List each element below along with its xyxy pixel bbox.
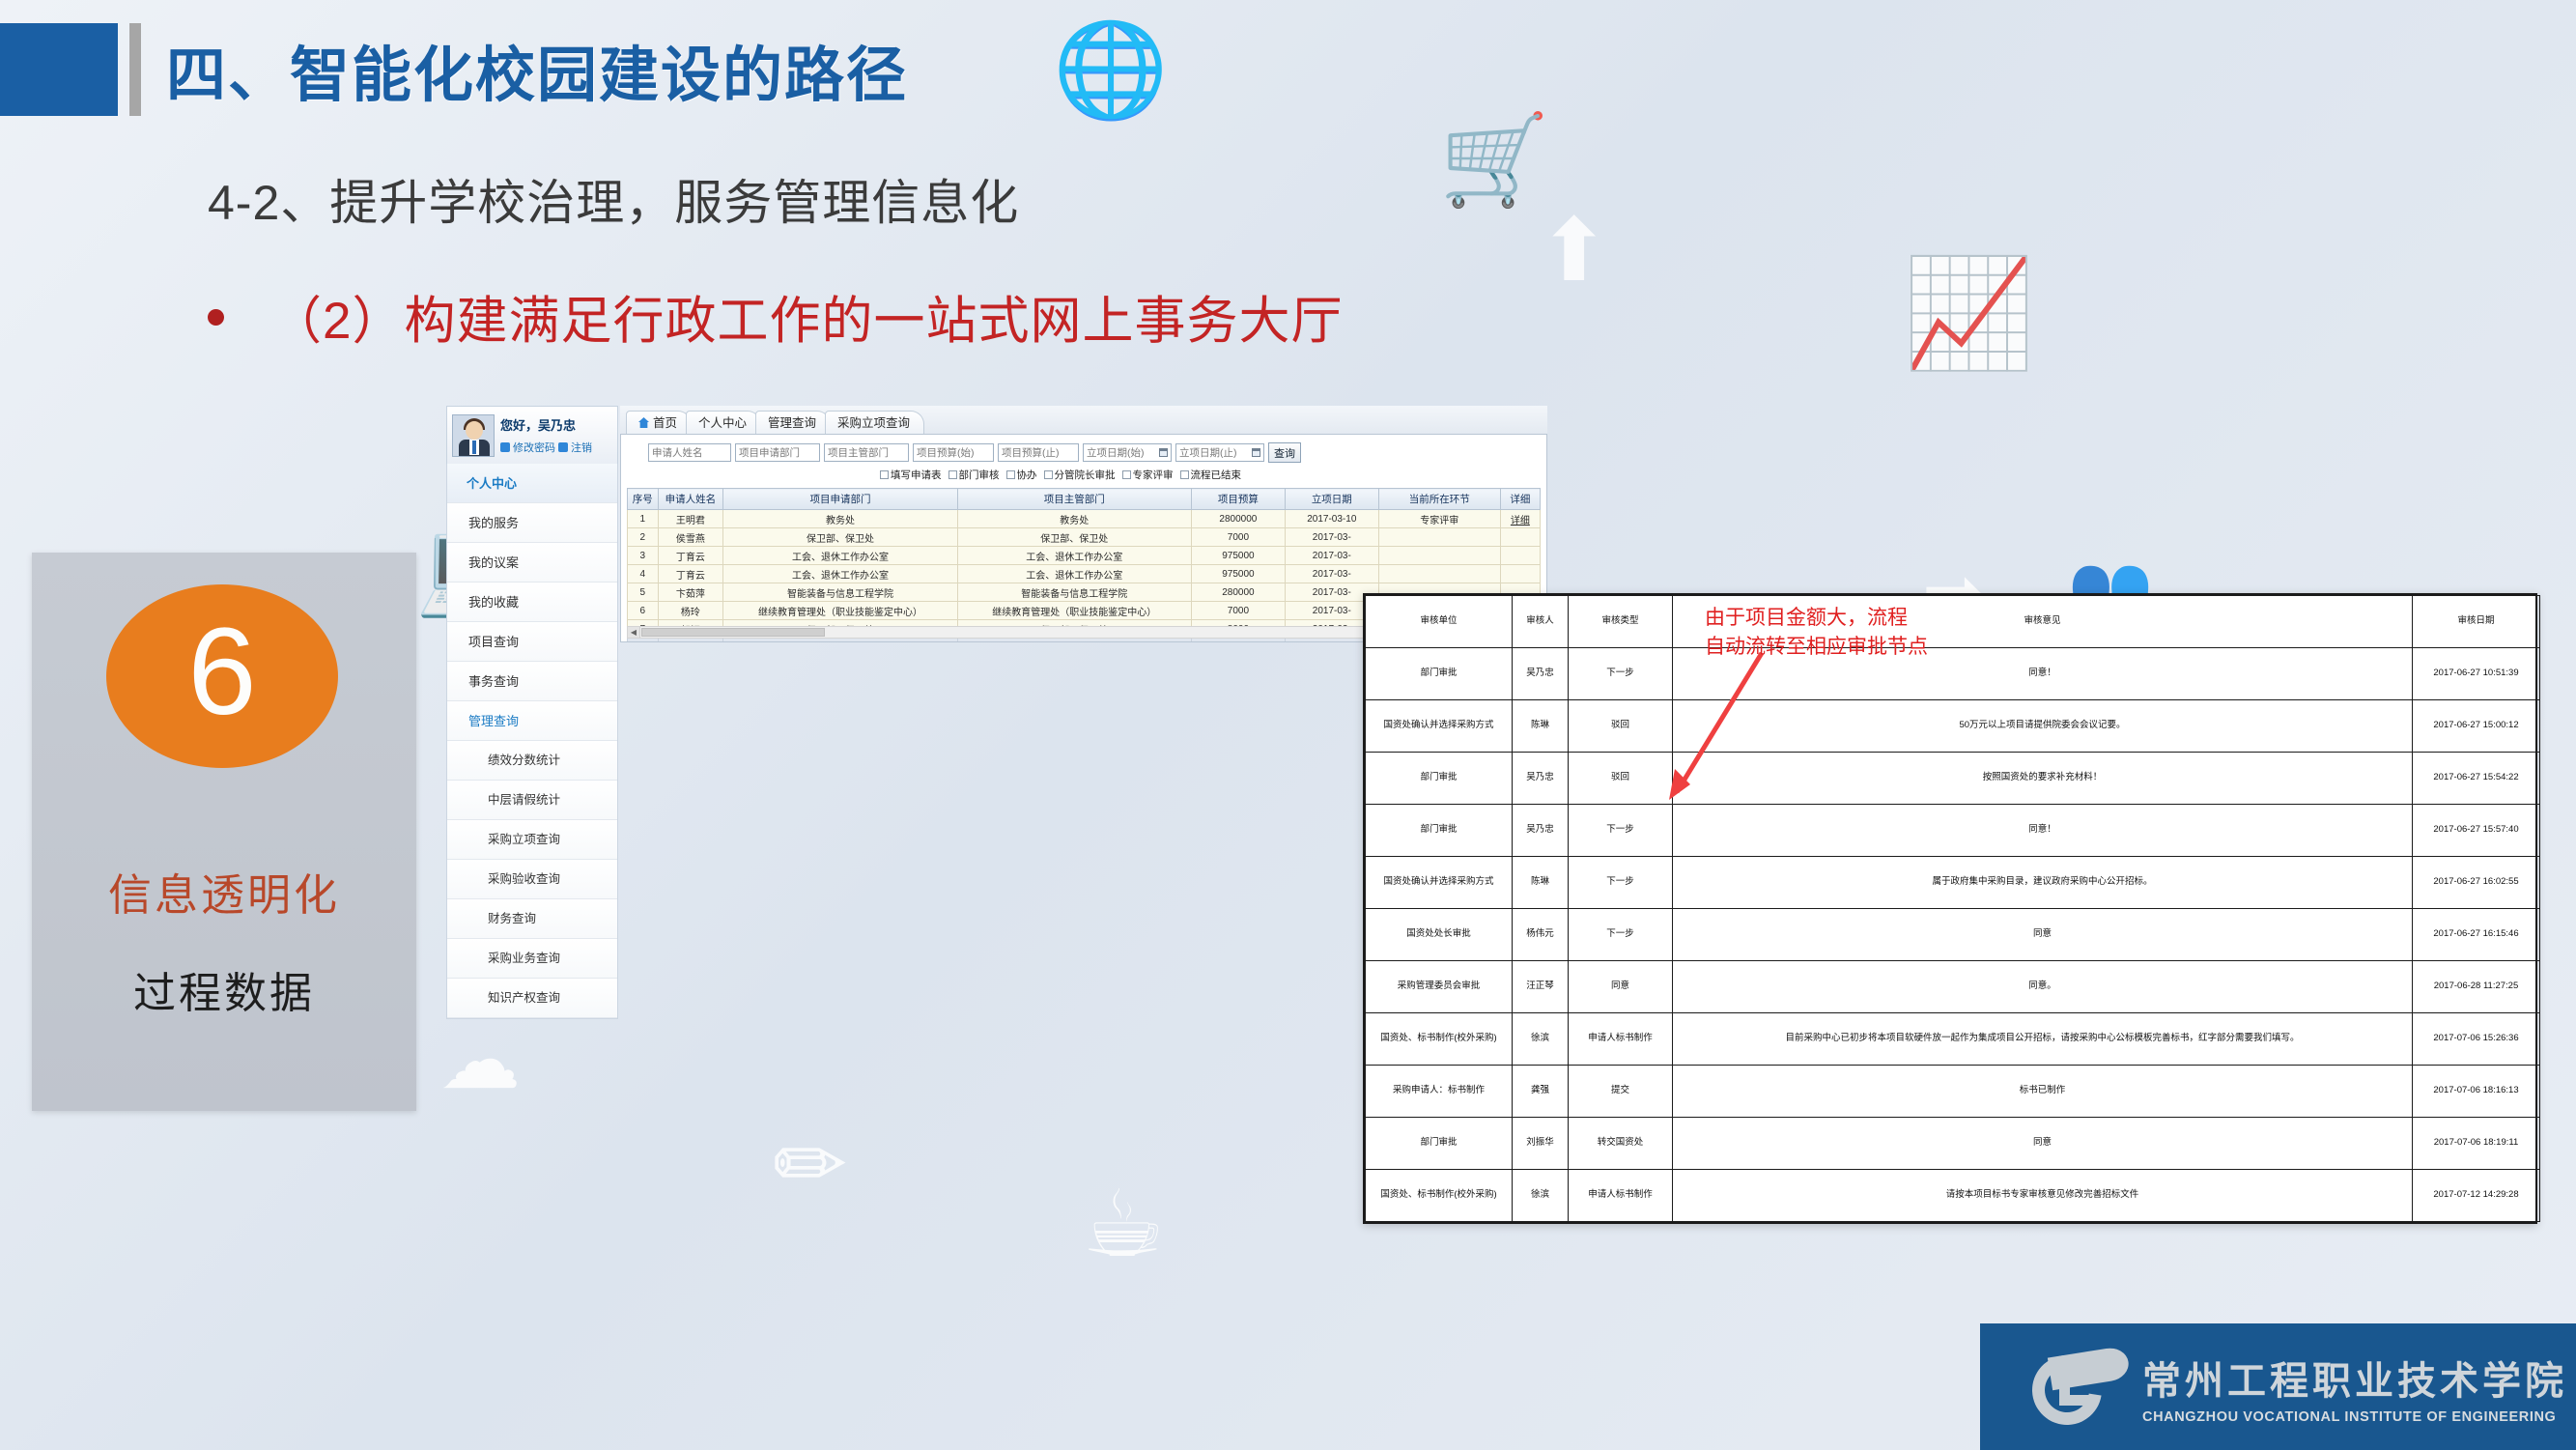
calendar-icon[interactable] xyxy=(1252,448,1260,457)
table-row[interactable]: 3丁育云工会、退休工作办公室工会、退休工作办公室9750002017-03- xyxy=(628,547,1541,565)
table-cell-apply: 保卫部、保卫处 xyxy=(723,528,957,547)
audit-cell-type: 同意 xyxy=(1569,961,1673,1013)
budget-to-input[interactable]: 项目预算(止) xyxy=(998,443,1079,462)
table-cell-budget: 975000 xyxy=(1191,565,1285,583)
checkbox-label: 专家评审 xyxy=(1133,468,1174,482)
audit-cell-unit: 采购申请人：标书制作 xyxy=(1366,1066,1513,1118)
tab-3[interactable]: 采购立项查询 xyxy=(825,411,924,434)
audit-cell-opinion: 同意 xyxy=(1673,1118,2413,1170)
sidebar-item-12[interactable]: 采购业务查询 xyxy=(447,939,617,979)
audit-cell-unit: 部门审批 xyxy=(1366,753,1513,805)
audit-cell-opinion: 同意 xyxy=(1673,909,2413,961)
audit-header-cell: 审核人 xyxy=(1513,596,1569,648)
status-checkbox-0[interactable]: 填写申请表 xyxy=(880,468,942,482)
table-cell-apply: 工会、退休工作办公室 xyxy=(723,547,957,565)
table-header-cell: 申请人姓名 xyxy=(658,489,723,510)
audit-cell-date: 2017-07-12 14:29:28 xyxy=(2413,1170,2540,1222)
step-number-circle: 6 xyxy=(106,584,338,768)
table-cell-manage: 学生工作部、人武部、学生工作处 xyxy=(957,639,1191,643)
status-checkbox-row: 填写申请表部门审核协办分管院长审批专家评审流程已结束 xyxy=(627,468,1541,482)
tab-label: 个人中心 xyxy=(698,412,747,435)
checkbox-icon[interactable] xyxy=(948,470,957,479)
audit-header-cell: 审核意见 xyxy=(1673,596,2413,648)
audit-cell-person: 吴乃忠 xyxy=(1513,753,1569,805)
sidebar-item-5[interactable]: 事务查询 xyxy=(447,662,617,701)
table-cell-apply: 学生工作部、人武部、学生工作处 xyxy=(723,639,957,643)
status-checkbox-1[interactable]: 部门审核 xyxy=(948,468,1000,482)
audit-cell-person: 徐滨 xyxy=(1513,1170,1569,1222)
scroll-left-arrow[interactable]: ◀ xyxy=(628,627,640,638)
table-cell-no: 8 xyxy=(628,639,659,643)
institute-name-cn: 常州工程职业技术学院 xyxy=(2142,1350,2567,1406)
apply-dept-input[interactable]: 项目申请部门 xyxy=(735,443,820,462)
monitor-chart-icon: 📈 xyxy=(1903,261,2035,367)
audit-cell-unit: 部门审批 xyxy=(1366,805,1513,857)
status-checkbox-4[interactable]: 专家评审 xyxy=(1122,468,1174,482)
audit-header-cell: 审核类型 xyxy=(1569,596,1673,648)
audit-row: 国资处处长审批杨伟元下一步同意2017-06-27 16:15:46 xyxy=(1366,909,2540,961)
table-cell-stage xyxy=(1378,547,1500,565)
search-button[interactable]: 查询 xyxy=(1268,442,1301,463)
slide-title-row: 四、智能化校园建设的路径 xyxy=(0,23,908,116)
sidebar-item-2[interactable]: 我的议案 xyxy=(447,543,617,583)
sidebar-item-0[interactable]: 个人中心 xyxy=(447,464,617,503)
audit-cell-unit: 国资处确认并选择采购方式 xyxy=(1366,700,1513,753)
audit-header-row: 审核单位审核人审核类型审核意见审核日期 xyxy=(1366,596,2540,648)
table-cell-date: 2017-03- xyxy=(1285,547,1378,565)
table-cell-name: 王明君 xyxy=(658,510,723,528)
audit-cell-type: 申请人标书制作 xyxy=(1569,1013,1673,1066)
sidebar-item-9[interactable]: 采购立项查询 xyxy=(447,820,617,860)
table-cell-apply: 智能装备与信息工程学院 xyxy=(723,583,957,602)
table-cell-detail[interactable] xyxy=(1500,547,1540,565)
table-row[interactable]: 2侯雪燕保卫部、保卫处保卫部、保卫处70002017-03- xyxy=(628,528,1541,547)
audit-cell-opinion: 属于政府集中采购目录，建议政府采购中心公开招标。 xyxy=(1673,857,2413,909)
globe-icon: 🌐 xyxy=(1053,24,1169,117)
badge-red-label: 信息透明化 xyxy=(32,860,416,923)
audit-cell-type: 下一步 xyxy=(1569,648,1673,700)
coffee-cup-icon: ☕ xyxy=(1082,1179,1165,1271)
checkbox-label: 填写申请表 xyxy=(891,468,942,482)
table-cell-date: 2017-03-10 xyxy=(1285,510,1378,528)
audit-cell-type: 提交 xyxy=(1569,1066,1673,1118)
tab-1[interactable]: 个人中心 xyxy=(686,411,761,434)
gear-icon xyxy=(500,442,510,452)
table-cell-manage: 工会、退休工作办公室 xyxy=(957,565,1191,583)
tab-label: 采购立项查询 xyxy=(837,412,910,435)
sidebar-item-10[interactable]: 采购验收查询 xyxy=(447,860,617,899)
slide-bullet-row: （2）构建满足行政工作的一站式网上事务大厅 xyxy=(208,280,1343,354)
table-cell-manage: 工会、退休工作办公室 xyxy=(957,547,1191,565)
table-header-cell: 详细 xyxy=(1500,489,1540,510)
audit-cell-date: 2017-07-06 15:26:36 xyxy=(2413,1013,2540,1066)
audit-cell-person: 龚强 xyxy=(1513,1066,1569,1118)
checkbox-icon[interactable] xyxy=(1044,470,1053,479)
manage-dept-input[interactable]: 项目主管部门 xyxy=(824,443,909,462)
table-cell-no: 3 xyxy=(628,547,659,565)
table-cell-apply: 工会、退休工作办公室 xyxy=(723,565,957,583)
audit-row: 采购申请人：标书制作龚强提交标书已制作2017-07-06 18:16:13 xyxy=(1366,1066,2540,1118)
audit-cell-person: 徐滨 xyxy=(1513,1013,1569,1066)
audit-cell-person: 汪正琴 xyxy=(1513,961,1569,1013)
table-cell-manage: 教务处 xyxy=(957,510,1191,528)
audit-row: 部门审批刘振华转交国资处同意2017-07-06 18:19:11 xyxy=(1366,1118,2540,1170)
checkbox-label: 协办 xyxy=(1017,468,1037,482)
table-cell-manage: 智能装备与信息工程学院 xyxy=(957,583,1191,602)
table-cell-stage: 专家评审 xyxy=(1378,510,1500,528)
institute-name-en: CHANGZHOU VOCATIONAL INSTITUTE OF ENGINE… xyxy=(2142,1409,2567,1425)
institute-logo-icon xyxy=(2026,1346,2131,1429)
table-cell-date: 2017-03- xyxy=(1285,528,1378,547)
change-password-link[interactable]: 修改密码 xyxy=(513,440,555,455)
table-cell-name: 杨玲 xyxy=(658,602,723,620)
audit-cell-opinion: 同意！ xyxy=(1673,805,2413,857)
audit-cell-type: 转交国资处 xyxy=(1569,1118,1673,1170)
audit-row: 采购管理委员会审批汪正琴同意同意。2017-06-28 11:27:25 xyxy=(1366,961,2540,1013)
audit-header-cell: 审核单位 xyxy=(1366,596,1513,648)
audit-cell-date: 2017-06-27 16:02:55 xyxy=(2413,857,2540,909)
table-cell-date: 2017-03- xyxy=(1285,565,1378,583)
audit-cell-date: 2017-06-27 15:57:40 xyxy=(2413,805,2540,857)
audit-row: 国资处、标书制作(校外采购)徐滨申请人标书制作请按本项目标书专家审核意见修改完善… xyxy=(1366,1170,2540,1222)
table-header-cell: 项目预算 xyxy=(1191,489,1285,510)
status-checkbox-2[interactable]: 协办 xyxy=(1006,468,1037,482)
table-cell-no: 6 xyxy=(628,602,659,620)
logout-icon xyxy=(558,442,568,452)
audit-cell-type: 驳回 xyxy=(1569,700,1673,753)
table-cell-no: 5 xyxy=(628,583,659,602)
upload-arrow-icon: ⬆ xyxy=(1538,208,1610,295)
audit-cell-date: 2017-07-06 18:16:13 xyxy=(2413,1066,2540,1118)
audit-cell-person: 吴乃忠 xyxy=(1513,648,1569,700)
date-to-label: 立项日期(止) xyxy=(1179,445,1237,460)
table-cell-name: 丁育云 xyxy=(658,565,723,583)
table-cell-no: 4 xyxy=(628,565,659,583)
table-cell-budget: 975000 xyxy=(1191,547,1285,565)
audit-cell-type: 驳回 xyxy=(1569,753,1673,805)
audit-cell-date: 2017-06-27 15:54:22 xyxy=(2413,753,2540,805)
audit-cell-person: 刘振华 xyxy=(1513,1118,1569,1170)
date-to-input[interactable]: 立项日期(止) xyxy=(1175,443,1264,462)
slide-subtitle: 4-2、提升学校治理，服务管理信息化 xyxy=(208,164,1019,234)
table-cell-stage xyxy=(1378,565,1500,583)
audit-cell-person: 陈琳 xyxy=(1513,857,1569,909)
checkbox-icon[interactable] xyxy=(1006,470,1015,479)
audit-cell-opinion: 同意。 xyxy=(1673,961,2413,1013)
table-cell-budget: 7000 xyxy=(1191,602,1285,620)
table-cell-detail[interactable]: 详细 xyxy=(1500,510,1540,528)
table-cell-stage xyxy=(1378,528,1500,547)
badge-panel: 6 信息透明化 过程数据 xyxy=(32,553,416,1111)
audit-cell-unit: 国资处确认并选择采购方式 xyxy=(1366,857,1513,909)
table-header-row: 序号申请人姓名项目申请部门项目主管部门项目预算立项日期当前所在环节详细 xyxy=(628,489,1541,510)
audit-header-cell: 审核日期 xyxy=(2413,596,2540,648)
checkbox-icon[interactable] xyxy=(1180,470,1189,479)
applicant-input[interactable]: 申请人姓名 xyxy=(648,443,731,462)
tab-label: 管理查询 xyxy=(768,412,816,435)
table-cell-no: 1 xyxy=(628,510,659,528)
table-cell-detail[interactable] xyxy=(1500,565,1540,583)
scroll-thumb[interactable] xyxy=(641,628,825,637)
date-from-input[interactable]: 立项日期(始) xyxy=(1083,443,1172,462)
audit-cell-person: 杨伟元 xyxy=(1513,909,1569,961)
audit-row: 部门审批吴乃忠下一步同意！2017-06-27 15:57:40 xyxy=(1366,805,2540,857)
checkbox-label: 部门审核 xyxy=(959,468,1000,482)
bullet-dot-icon xyxy=(208,309,224,326)
table-cell-name: 侯雪燕 xyxy=(658,528,723,547)
table-cell-name: 卞茹萍 xyxy=(658,583,723,602)
audit-cell-unit: 国资处处长审批 xyxy=(1366,909,1513,961)
user-greeting: 您好，吴乃忠 xyxy=(500,415,592,434)
badge-black-label: 过程数据 xyxy=(32,958,416,1020)
pencil-icon: ✏ xyxy=(773,1121,847,1209)
sidebar-item-4[interactable]: 项目查询 xyxy=(447,622,617,662)
audit-cell-date: 2017-06-27 15:00:12 xyxy=(2413,700,2540,753)
table-cell-apply: 继续教育管理处（职业技能鉴定中心） xyxy=(723,602,957,620)
audit-row: 国资处、标书制作(校外采购)徐滨申请人标书制作目前采购中心已初步将本项目软硬件放… xyxy=(1366,1013,2540,1066)
tab-2[interactable]: 管理查询 xyxy=(755,411,831,434)
checkbox-label: 分管院长审批 xyxy=(1055,468,1116,482)
title-bar-accent xyxy=(129,23,141,116)
sidebar-item-11[interactable]: 财务查询 xyxy=(447,899,617,939)
table-row[interactable]: 4丁育云工会、退休工作办公室工会、退休工作办公室9750002017-03- xyxy=(628,565,1541,583)
audit-cell-opinion: 50万元以上项目请提供院委会会议记要。 xyxy=(1673,700,2413,753)
audit-cell-person: 陈琳 xyxy=(1513,700,1569,753)
audit-cell-type: 下一步 xyxy=(1569,805,1673,857)
table-cell-budget: 7000 xyxy=(1191,528,1285,547)
sidebar-item-6[interactable]: 管理查询 xyxy=(447,701,617,741)
audit-cell-unit: 部门审批 xyxy=(1366,1118,1513,1170)
audit-history-table: 审核单位审核人审核类型审核意见审核日期 部门审批吴乃忠下一步同意！2017-06… xyxy=(1363,593,2537,1224)
title-square-accent xyxy=(0,23,118,116)
table-cell-detail[interactable] xyxy=(1500,528,1540,547)
status-checkbox-3[interactable]: 分管院长审批 xyxy=(1044,468,1116,482)
budget-from-input[interactable]: 项目预算(始) xyxy=(913,443,994,462)
table-cell-budget: 2800000 xyxy=(1191,510,1285,528)
table-row[interactable]: 1王明君教务处教务处28000002017-03-10专家评审详细 xyxy=(628,510,1541,528)
sidebar-item-8[interactable]: 中层请假统计 xyxy=(447,781,617,820)
table-header-cell: 序号 xyxy=(628,489,659,510)
audit-cell-opinion: 目前采购中心已初步将本项目软硬件放一起作为集成项目公开招标，请按采购中心公标模板… xyxy=(1673,1013,2413,1066)
audit-row: 部门审批吴乃忠下一步同意！2017-06-27 10:51:39 xyxy=(1366,648,2540,700)
sidebar-item-1[interactable]: 我的服务 xyxy=(447,503,617,543)
tab-0[interactable]: 首页 xyxy=(626,411,692,434)
audit-cell-date: 2017-06-27 10:51:39 xyxy=(2413,648,2540,700)
table-cell-apply: 教务处 xyxy=(723,510,957,528)
step-number: 6 xyxy=(187,611,256,734)
audit-cell-date: 2017-06-27 16:15:46 xyxy=(2413,909,2540,961)
audit-cell-date: 2017-07-06 18:19:11 xyxy=(2413,1118,2540,1170)
table-cell-name: 黄正兵 xyxy=(658,639,723,643)
slide-bullet-text: （2）构建满足行政工作的一站式网上事务大厅 xyxy=(270,280,1343,354)
checkbox-icon[interactable] xyxy=(1122,470,1131,479)
audit-cell-date: 2017-06-28 11:27:25 xyxy=(2413,961,2540,1013)
audit-cell-person: 吴乃忠 xyxy=(1513,805,1569,857)
date-from-label: 立项日期(始) xyxy=(1087,445,1145,460)
table-cell-no: 2 xyxy=(628,528,659,547)
audit-cell-unit: 国资处、标书制作(校外采购) xyxy=(1366,1170,1513,1222)
sidebar-item-13[interactable]: 知识产权查询 xyxy=(447,979,617,1018)
table-cell-budget: 280000 xyxy=(1191,583,1285,602)
footer-logo-bar: 常州工程职业技术学院 CHANGZHOU VOCATIONAL INSTITUT… xyxy=(1980,1323,2576,1450)
table-cell-name: 丁育云 xyxy=(658,547,723,565)
table-header-cell: 当前所在环节 xyxy=(1378,489,1500,510)
filter-row: 申请人姓名 项目申请部门 项目主管部门 项目预算(始) 项目预算(止) 立项日期… xyxy=(627,442,1541,463)
table-header-cell: 项目申请部门 xyxy=(723,489,957,510)
audit-cell-unit: 国资处、标书制作(校外采购) xyxy=(1366,1013,1513,1066)
audit-cell-type: 下一步 xyxy=(1569,909,1673,961)
user-info-box: 您好，吴乃忠 修改密码 注销 xyxy=(446,406,618,464)
checkbox-label: 流程已结束 xyxy=(1191,468,1242,482)
cart-icon: 🛒 xyxy=(1439,116,1550,205)
status-checkbox-5[interactable]: 流程已结束 xyxy=(1180,468,1242,482)
audit-cell-opinion: 按照国资处的要求补充材料！ xyxy=(1673,753,2413,805)
tab-bar: 首页个人中心管理查询采购立项查询 xyxy=(620,406,1547,435)
table-header-cell: 项目主管部门 xyxy=(957,489,1191,510)
sidebar: 个人中心我的服务我的议案我的收藏项目查询事务查询管理查询绩效分数统计中层请假统计… xyxy=(446,464,618,1019)
sidebar-item-3[interactable]: 我的收藏 xyxy=(447,583,617,622)
audit-row: 国资处确认并选择采购方式陈琳驳回50万元以上项目请提供院委会会议记要。2017-… xyxy=(1366,700,2540,753)
table-header-cell: 立项日期 xyxy=(1285,489,1378,510)
calendar-icon[interactable] xyxy=(1159,448,1168,457)
avatar xyxy=(452,414,495,457)
audit-row: 部门审批吴乃忠驳回按照国资处的要求补充材料！2017-06-27 15:54:2… xyxy=(1366,753,2540,805)
audit-cell-unit: 采购管理委员会审批 xyxy=(1366,961,1513,1013)
home-icon xyxy=(638,417,649,428)
checkbox-icon[interactable] xyxy=(880,470,889,479)
page-title: 四、智能化校园建设的路径 xyxy=(166,26,908,113)
audit-cell-opinion: 标书已制作 xyxy=(1673,1066,2413,1118)
table-cell-manage: 保卫部、保卫处 xyxy=(957,528,1191,547)
table-cell-budget: 2200 xyxy=(1191,639,1285,643)
audit-cell-opinion: 同意！ xyxy=(1673,648,2413,700)
cloud-icon: ☁ xyxy=(439,1019,521,1100)
sidebar-item-7[interactable]: 绩效分数统计 xyxy=(447,741,617,781)
audit-cell-unit: 部门审批 xyxy=(1366,648,1513,700)
audit-cell-type: 申请人标书制作 xyxy=(1569,1170,1673,1222)
audit-cell-type: 下一步 xyxy=(1569,857,1673,909)
table-cell-manage: 继续教育管理处（职业技能鉴定中心） xyxy=(957,602,1191,620)
tab-label: 首页 xyxy=(653,412,677,435)
logout-link[interactable]: 注销 xyxy=(571,440,592,455)
audit-row: 国资处确认并选择采购方式陈琳下一步属于政府集中采购目录，建议政府采购中心公开招标… xyxy=(1366,857,2540,909)
audit-cell-opinion: 请按本项目标书专家审核意见修改完善招标文件 xyxy=(1673,1170,2413,1222)
